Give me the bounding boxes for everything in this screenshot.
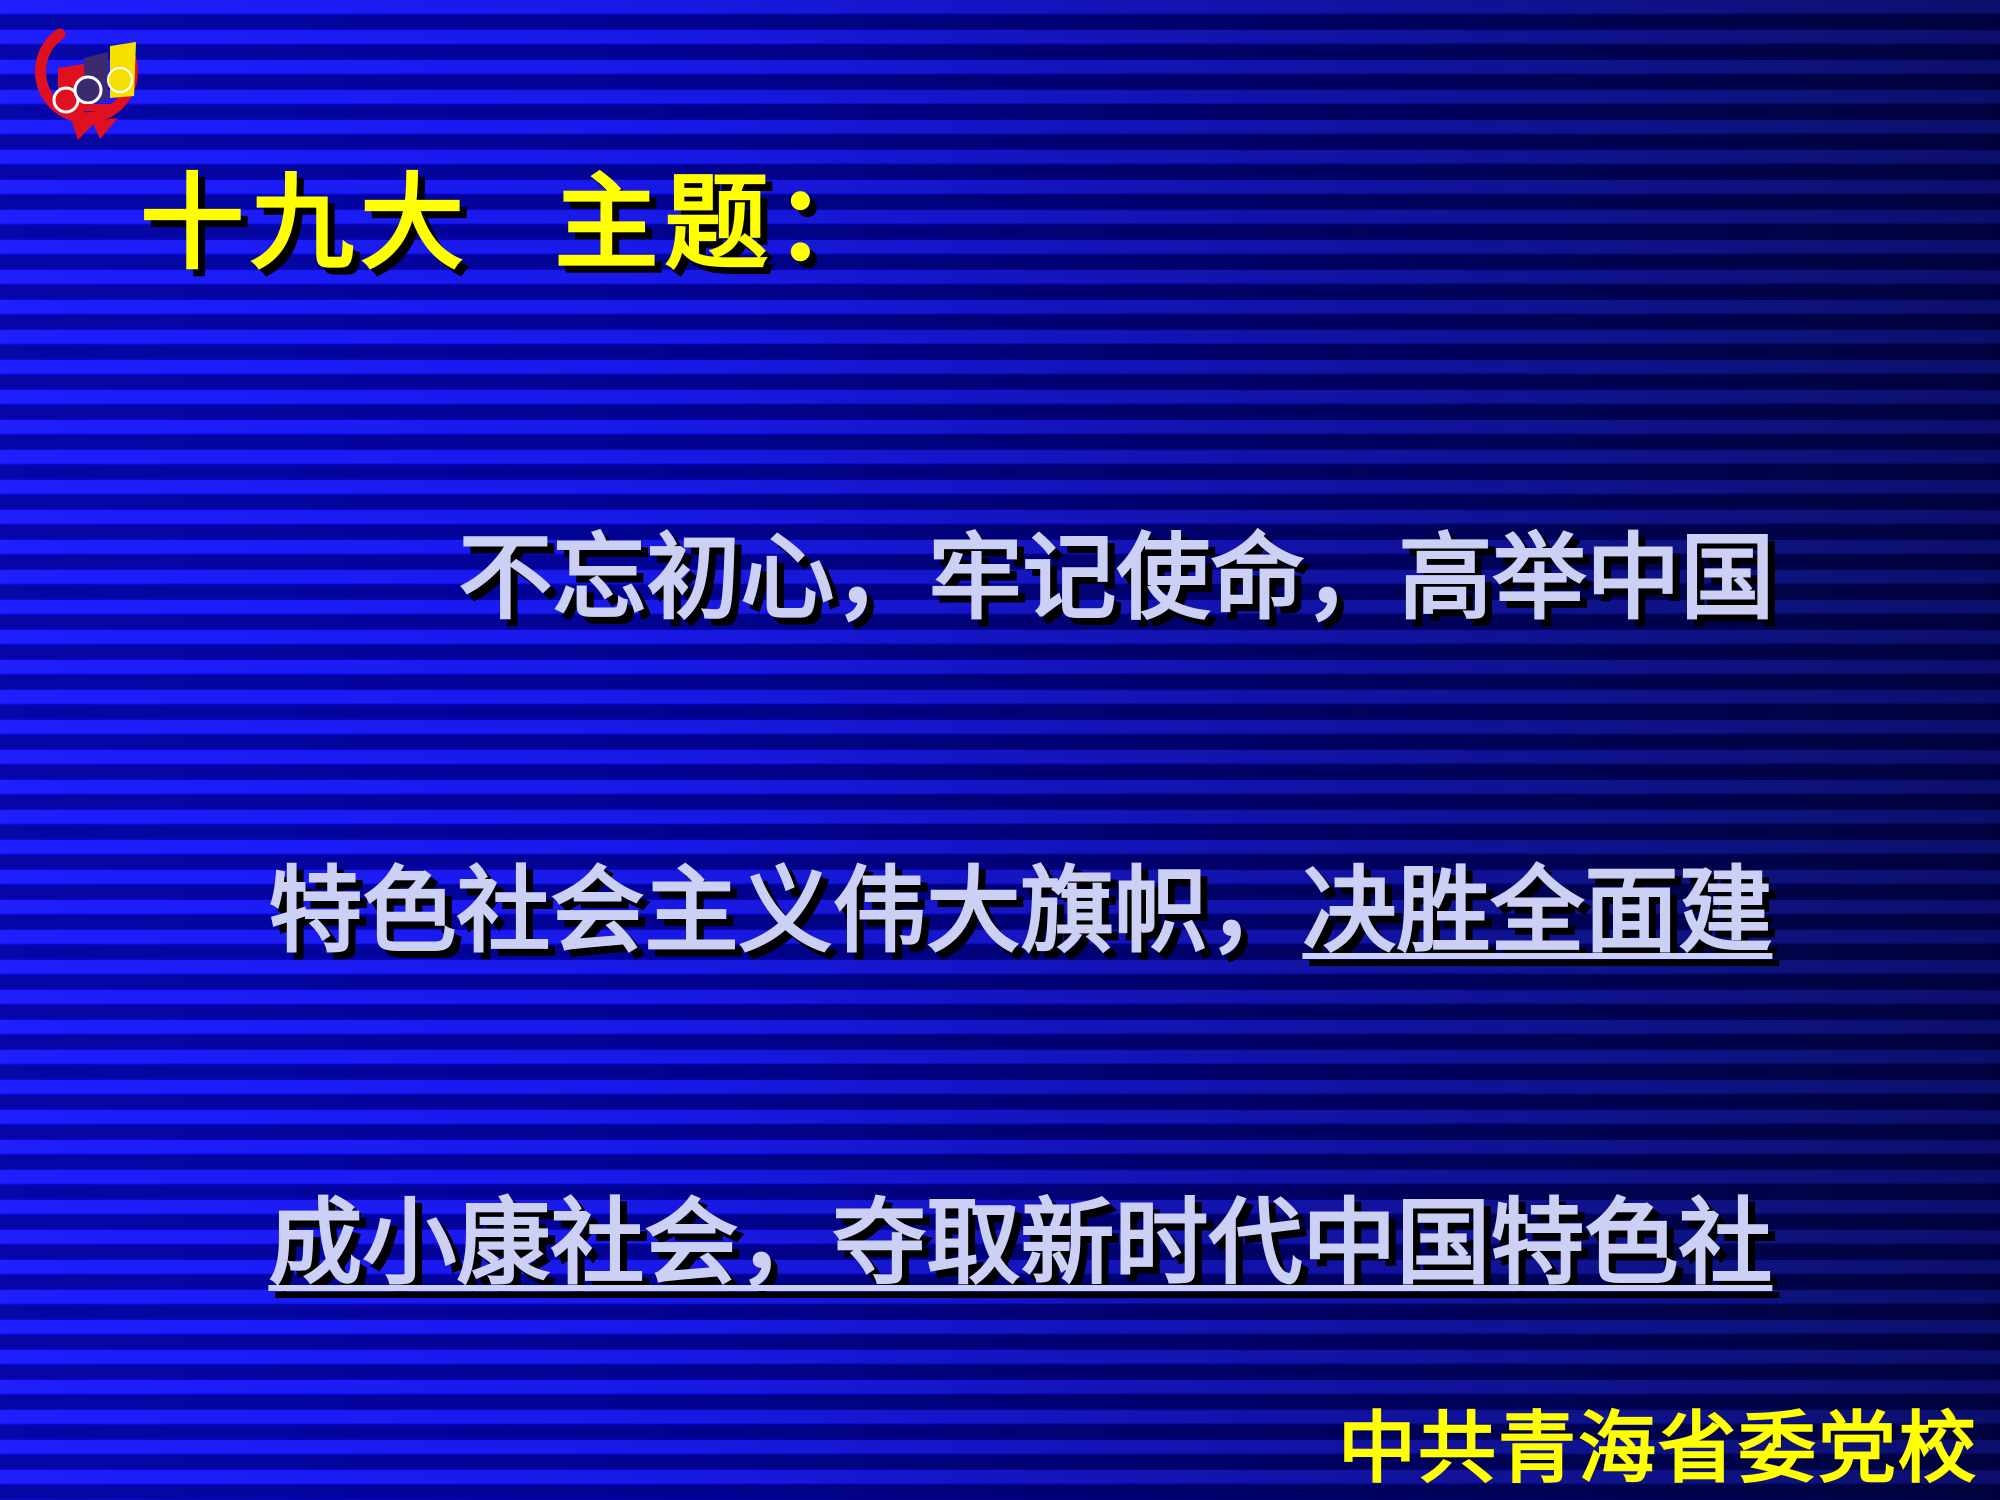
body-line: 成小康社会，夺取新时代中国特色社 xyxy=(72,1077,1932,1410)
slide-title: 十九大 主题： xyxy=(140,168,884,277)
body-segment: 不忘初心，牢记使命，高举中国 xyxy=(458,523,1774,633)
slide-body: 不忘初心，牢记使命，高举中国 特色社会主义伟大旗帜，决胜全面建 成小康社会，夺取… xyxy=(72,412,1932,1500)
body-segment-underlined: 成小康社会，夺取新时代中国特色社 xyxy=(268,1188,1772,1298)
presentation-slide: 十九大 主题： 不忘初心，牢记使命，高举中国 特色社会主义伟大旗帜，决胜全面建 … xyxy=(0,0,2000,1500)
slide-footer-organization: 中共青海省委党校 xyxy=(1338,1386,1978,1498)
party-school-logo-icon xyxy=(26,18,154,148)
body-segment: 特色社会主义伟大旗帜， xyxy=(268,856,1302,966)
body-segment-underlined: 决胜全面建 xyxy=(1302,856,1772,966)
body-line: 特色社会主义伟大旗帜，决胜全面建 xyxy=(72,745,1932,1078)
body-line: 不忘初心，牢记使命，高举中国 xyxy=(72,412,1932,745)
